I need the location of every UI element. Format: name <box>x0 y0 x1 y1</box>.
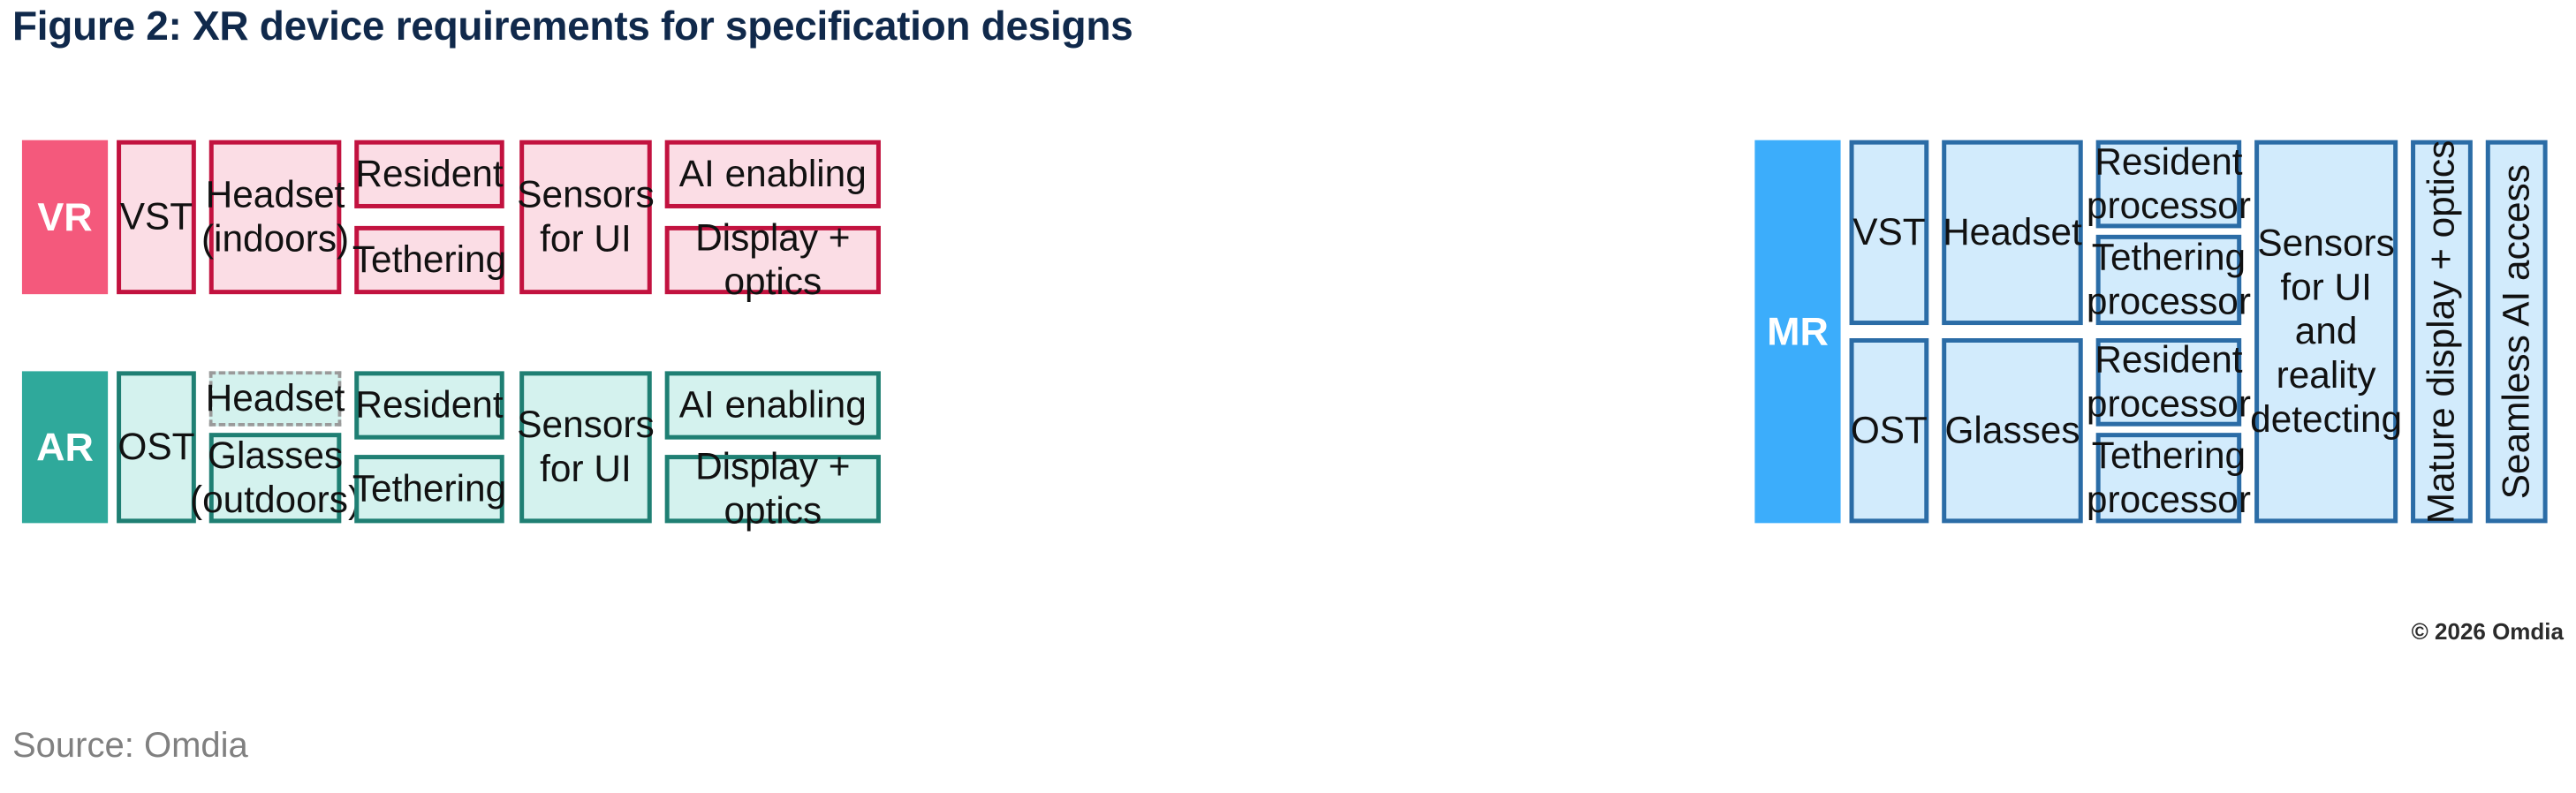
mr-ost-cell: OST <box>1850 338 1929 523</box>
vr-sensors-cell: Sensors for UI <box>519 140 652 294</box>
mr-tethering-processor-bottom-line1: Tethering <box>2092 434 2246 478</box>
ar-glasses-line1: Glasses <box>208 434 343 478</box>
vr-resident-cell: Resident <box>354 140 504 208</box>
mr-resident-processor-top-line2: processor <box>2087 185 2251 229</box>
mr-resident-processor-bottom-line2: processor <box>2087 382 2251 427</box>
mr-tethering-processor-top-line2: processor <box>2087 280 2251 324</box>
ar-glasses-line2: (outdoors) <box>190 478 360 522</box>
vr-headset-line2: (indoors) <box>201 217 349 261</box>
vr-vst-cell: VST <box>117 140 196 294</box>
ar-glasses-cell: Glasses (outdoors) <box>209 433 342 523</box>
source-note: Source: Omdia <box>12 726 248 766</box>
ar-row-label: AR <box>22 371 108 523</box>
mr-tethering-processor-top-cell: Tethering processor <box>2096 235 2241 325</box>
mr-resident-processor-bottom-cell: Resident processor <box>2096 338 2241 427</box>
mr-sensors-line1: Sensors <box>2257 222 2394 266</box>
mr-vst-cell: VST <box>1850 140 1929 325</box>
ar-display-optics-cell: Display + optics <box>665 455 881 523</box>
vr-sensors-line2: for UI <box>540 217 632 261</box>
mr-mature-display-cell: Mature display + optics <box>2411 140 2473 524</box>
mr-resident-processor-bottom-line1: Resident <box>2095 338 2242 382</box>
mr-seamless-ai-label: Seamless AI access <box>2495 164 2539 499</box>
ar-sensors-line2: for UI <box>540 447 632 491</box>
ar-ost-cell: OST <box>117 371 196 523</box>
ar-ai-enabling-cell: AI enabling <box>665 371 881 439</box>
ar-resident-cell: Resident <box>354 371 504 439</box>
xr-requirements-diagram: VR VST Headset (indoors) Resident Tether… <box>0 124 2576 751</box>
vr-row-label: VR <box>22 140 108 294</box>
copyright-notice: © 2026 Omdia <box>2412 618 2564 646</box>
ar-sensors-line1: Sensors <box>517 403 654 447</box>
figure-title: Figure 2: XR device requirements for spe… <box>12 2 1133 49</box>
ar-sensors-cell: Sensors for UI <box>519 371 652 523</box>
mr-resident-processor-top-line1: Resident <box>2095 140 2242 185</box>
mr-tethering-processor-top-line1: Tethering <box>2092 236 2246 280</box>
mr-seamless-ai-cell: Seamless AI access <box>2486 140 2548 524</box>
mr-tethering-processor-bottom-cell: Tethering processor <box>2096 433 2241 523</box>
vr-headset-cell: Headset (indoors) <box>209 140 342 294</box>
mr-sensors-line4: reality <box>2277 354 2376 398</box>
vr-sensors-line1: Sensors <box>517 173 654 217</box>
ar-tethering-cell: Tethering <box>354 455 504 523</box>
mr-glasses-cell: Glasses <box>1942 338 2083 523</box>
mr-sensors-line3: and <box>2295 310 2358 354</box>
mr-sensors-line2: for UI <box>2280 266 2372 310</box>
vr-display-optics-cell: Display + optics <box>665 226 881 294</box>
mr-sensors-cell: Sensors for UI and reality detecting <box>2254 140 2398 524</box>
mr-tethering-processor-bottom-line2: processor <box>2087 478 2251 522</box>
ar-headset-cell: Headset <box>209 371 342 426</box>
vr-headset-line1: Headset <box>206 173 345 217</box>
mr-row-label: MR <box>1754 140 1840 524</box>
mr-headset-cell: Headset <box>1942 140 2083 325</box>
mr-mature-display-label: Mature display + optics <box>2420 140 2464 523</box>
mr-sensors-line5: detecting <box>2250 397 2402 442</box>
mr-resident-processor-top-cell: Resident processor <box>2096 140 2241 229</box>
vr-tethering-cell: Tethering <box>354 226 504 294</box>
vr-ai-enabling-cell: AI enabling <box>665 140 881 208</box>
